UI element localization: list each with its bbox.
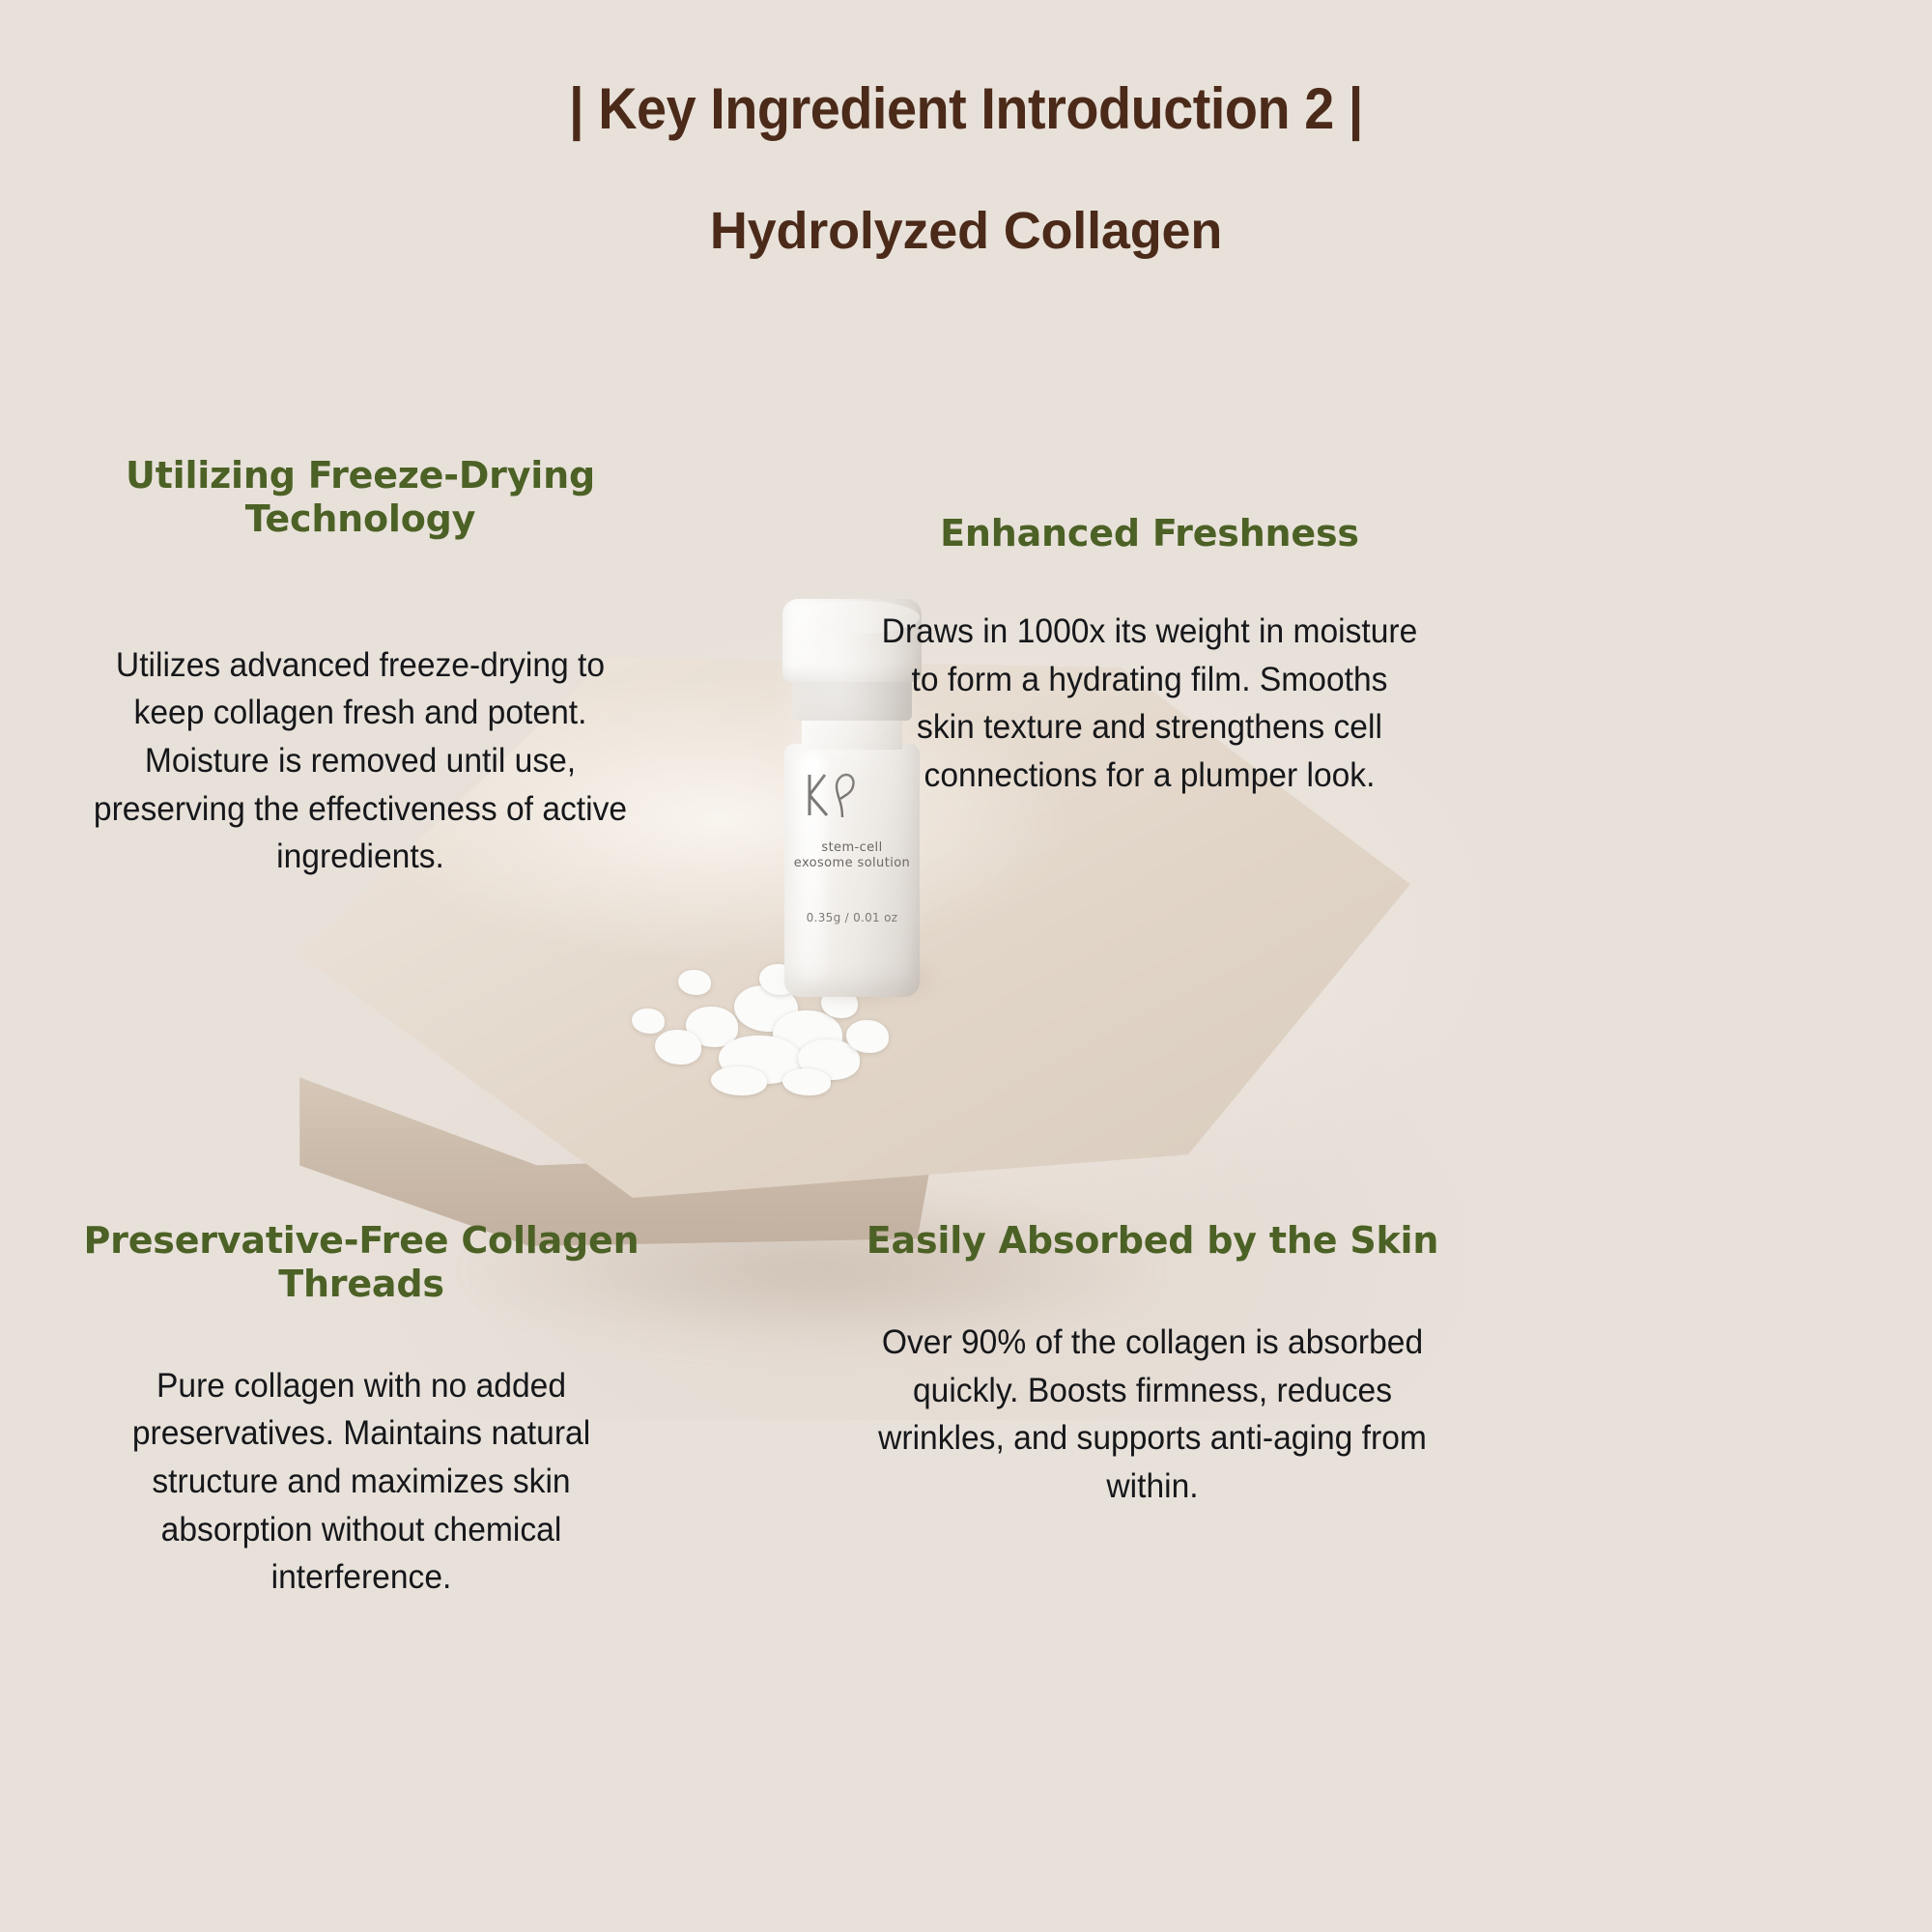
vial-label-text: stem-cell exosome solution 0.35g / 0.01 … bbox=[784, 840, 920, 925]
vial-label-line1: stem-cell bbox=[784, 840, 920, 856]
feature-body: Over 90% of the collagen is absorbed qui… bbox=[869, 1319, 1435, 1511]
feature-body: Pure collagen with no added preservative… bbox=[93, 1362, 631, 1602]
feature-heading: Enhanced Freshness bbox=[869, 512, 1430, 555]
brand-logo-icon bbox=[804, 769, 858, 821]
feature-panel-bottom-left: Preservative-Free Collagen Threads Pure … bbox=[81, 1219, 641, 1602]
feature-heading: Utilizing Freeze-Drying Technology bbox=[75, 454, 645, 541]
page-title: | Key Ingredient Introduction 2 | bbox=[68, 75, 1864, 142]
feature-body: Utilizes advanced freeze-drying to keep … bbox=[87, 641, 634, 881]
feature-body: Draws in 1000x its weight in moisture to… bbox=[881, 608, 1419, 800]
vial-label-line3: 0.35g / 0.01 oz bbox=[784, 911, 920, 925]
feature-panel-bottom-right: Easily Absorbed by the Skin Over 90% of … bbox=[858, 1219, 1447, 1511]
page-subtitle: Hydrolyzed Collagen bbox=[0, 201, 1932, 261]
feature-heading: Easily Absorbed by the Skin bbox=[858, 1219, 1447, 1263]
feature-panel-top-right: Enhanced Freshness Draws in 1000x its we… bbox=[869, 512, 1430, 800]
feature-heading: Preservative-Free Collagen Threads bbox=[81, 1219, 641, 1306]
feature-panel-top-left: Utilizing Freeze-Drying Technology Utili… bbox=[75, 454, 645, 881]
vial-label-line2: exosome solution bbox=[784, 856, 920, 871]
